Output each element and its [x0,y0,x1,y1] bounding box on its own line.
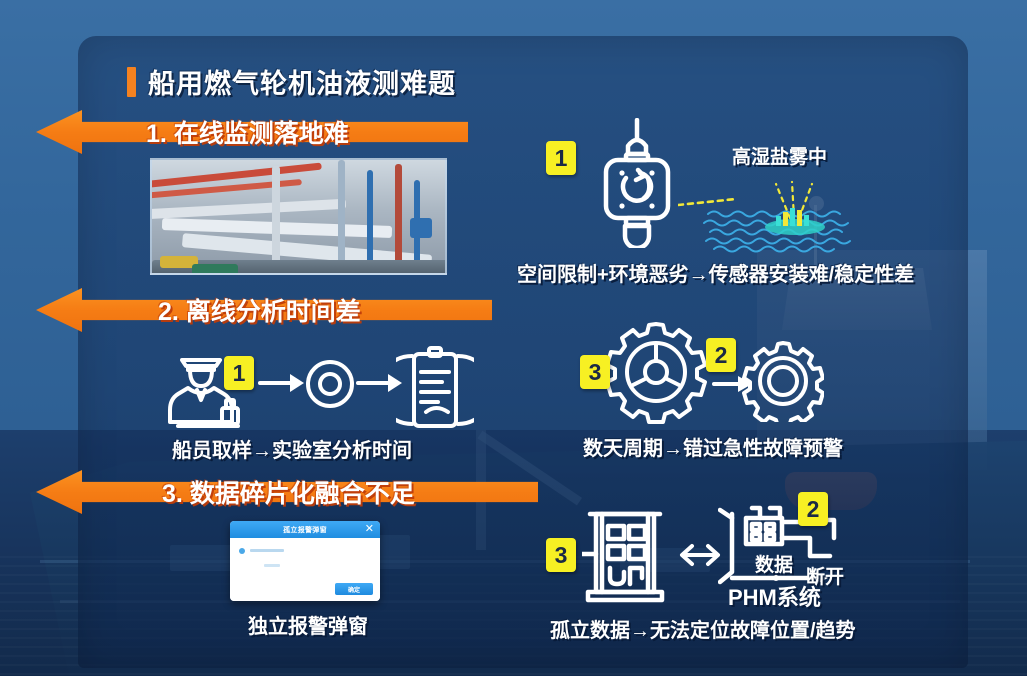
pipe-vertical [272,166,280,274]
badge-3-server: 3 [546,538,576,572]
bidirectional-arrow-icon [676,540,724,570]
circle-node-icon [304,358,356,410]
banner-section-3-labelwrap: 3. 数据碎片化融合不足 [36,470,538,514]
title-accent-bar [127,67,136,97]
lab-report-icon [396,346,474,434]
tank-green [192,264,238,275]
caption-section-1: 空间限制+环境恶劣→传感器安装难/稳定性差 [517,258,914,287]
dialog-body: 确定 [230,538,380,601]
large-gear-icon [604,320,708,424]
info-dot-icon [239,548,245,554]
badge-2-network: 2 [798,492,828,526]
alarm-popup-dialog[interactable]: 孤立报警弹窗 ✕ 确定 [230,521,380,601]
pipe-blue [367,170,373,270]
badge-3-gear: 3 [580,355,610,389]
caption-section-2-left: 船员取样→实验室分析时间 [172,434,412,463]
caption-section-2-right: 数天周期→错过急性故障预警 [583,432,843,461]
arrow-right-icon [258,370,304,396]
dialog-text-line [264,564,280,567]
poster-canvas: 船用燃气轮机油液测难题 1. 在线监测落地难 1 [0,0,1027,676]
banner-section-1-labelwrap: 1. 在线监测落地难 [36,110,468,154]
badge-1-crew: 1 [224,356,254,390]
banner-label-1: 1. 在线监测落地难 [146,114,349,150]
dialog-titlebar: 孤立报警弹窗 ✕ [230,521,380,538]
sensor-probe-icon [594,118,680,248]
caption-section-3-right: 孤立数据→无法定位故障位置/趋势 [550,614,856,643]
badge-1-sensor: 1 [546,141,576,175]
valve-blue [410,218,432,238]
dialog-text-line [250,549,284,552]
banner-section-2-labelwrap: 2. 离线分析时间差 [36,288,492,332]
pipe-red-vertical [395,164,402,274]
pipe-grey [150,199,346,219]
caption-section-3-left: 独立报警弹窗 [248,610,368,639]
banner-label-2: 2. 离线分析时间差 [158,292,361,328]
sea-waves-island-illustration [700,178,890,253]
dialog-confirm-button[interactable]: 确定 [335,583,373,595]
close-icon[interactable]: ✕ [365,523,374,535]
page-title: 船用燃气轮机油液测难题 [127,62,456,101]
engine-room-photo [150,158,447,275]
phm-system-label: PHM系统 [728,580,821,612]
title-text: 船用燃气轮机油液测难题 [148,62,456,101]
banner-label-3: 3. 数据碎片化融合不足 [162,474,415,510]
dialog-title-text: 孤立报警弹窗 [283,525,327,535]
pipe-vertical [338,160,345,275]
humidity-salt-fog-label: 高湿盐雾中 [732,142,827,169]
small-gear-icon [742,340,824,422]
server-building-icon [582,502,668,606]
badge-2-gear: 2 [706,338,736,372]
data-label: 数据 [755,550,793,577]
